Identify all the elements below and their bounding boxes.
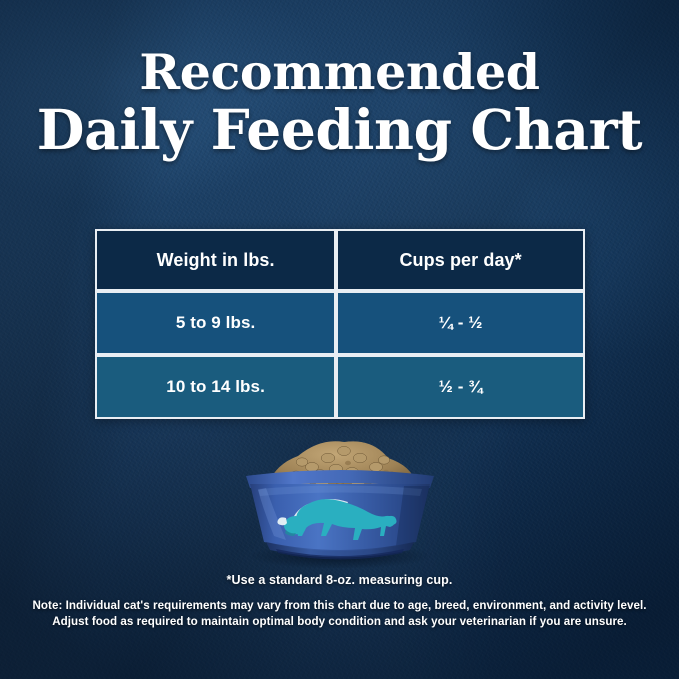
cell-weight-row2: 10 to 14 lbs. xyxy=(95,355,336,419)
table-header-cups: Cups per day* xyxy=(336,229,585,291)
table-header-weight-label: Weight in lbs. xyxy=(97,250,334,271)
feeding-chart-infographic: Recommended Daily Feeding Chart Weight i… xyxy=(0,0,679,679)
page-title: Recommended Daily Feeding Chart xyxy=(0,44,679,160)
feeding-chart-table: Weight in lbs. Cups per day* 5 to 9 lbs.… xyxy=(95,229,585,419)
cell-weight-row2-text: 10 to 14 lbs. xyxy=(97,377,334,397)
cell-cups-row2-text: ½ - ¾ xyxy=(338,377,583,397)
table-header-row: Weight in lbs. Cups per day* xyxy=(95,229,585,291)
title-line-1: Recommended xyxy=(0,44,679,100)
cell-cups-row2: ½ - ¾ xyxy=(336,355,585,419)
table-header-weight: Weight in lbs. xyxy=(95,229,336,291)
table-row: 10 to 14 lbs. ½ - ¾ xyxy=(95,355,585,419)
food-bowl-image xyxy=(236,432,444,568)
table-row: 5 to 9 lbs. ¼ - ½ xyxy=(95,291,585,355)
disclaimer-note-line-1: Note: Individual cat's requirements may … xyxy=(0,598,679,614)
measuring-cup-footnote: *Use a standard 8-oz. measuring cup. xyxy=(0,573,679,587)
cell-weight-row1: 5 to 9 lbs. xyxy=(95,291,336,355)
cell-cups-row1: ¼ - ½ xyxy=(336,291,585,355)
cell-cups-row1-text: ¼ - ½ xyxy=(338,313,583,333)
cell-weight-row1-text: 5 to 9 lbs. xyxy=(97,313,334,333)
disclaimer-note: Note: Individual cat's requirements may … xyxy=(0,598,679,630)
title-line-2: Daily Feeding Chart xyxy=(0,100,679,160)
disclaimer-note-line-2: Adjust food as required to maintain opti… xyxy=(0,614,679,630)
food-bowl-illustration xyxy=(236,432,444,568)
table-header-cups-label: Cups per day* xyxy=(338,250,583,271)
